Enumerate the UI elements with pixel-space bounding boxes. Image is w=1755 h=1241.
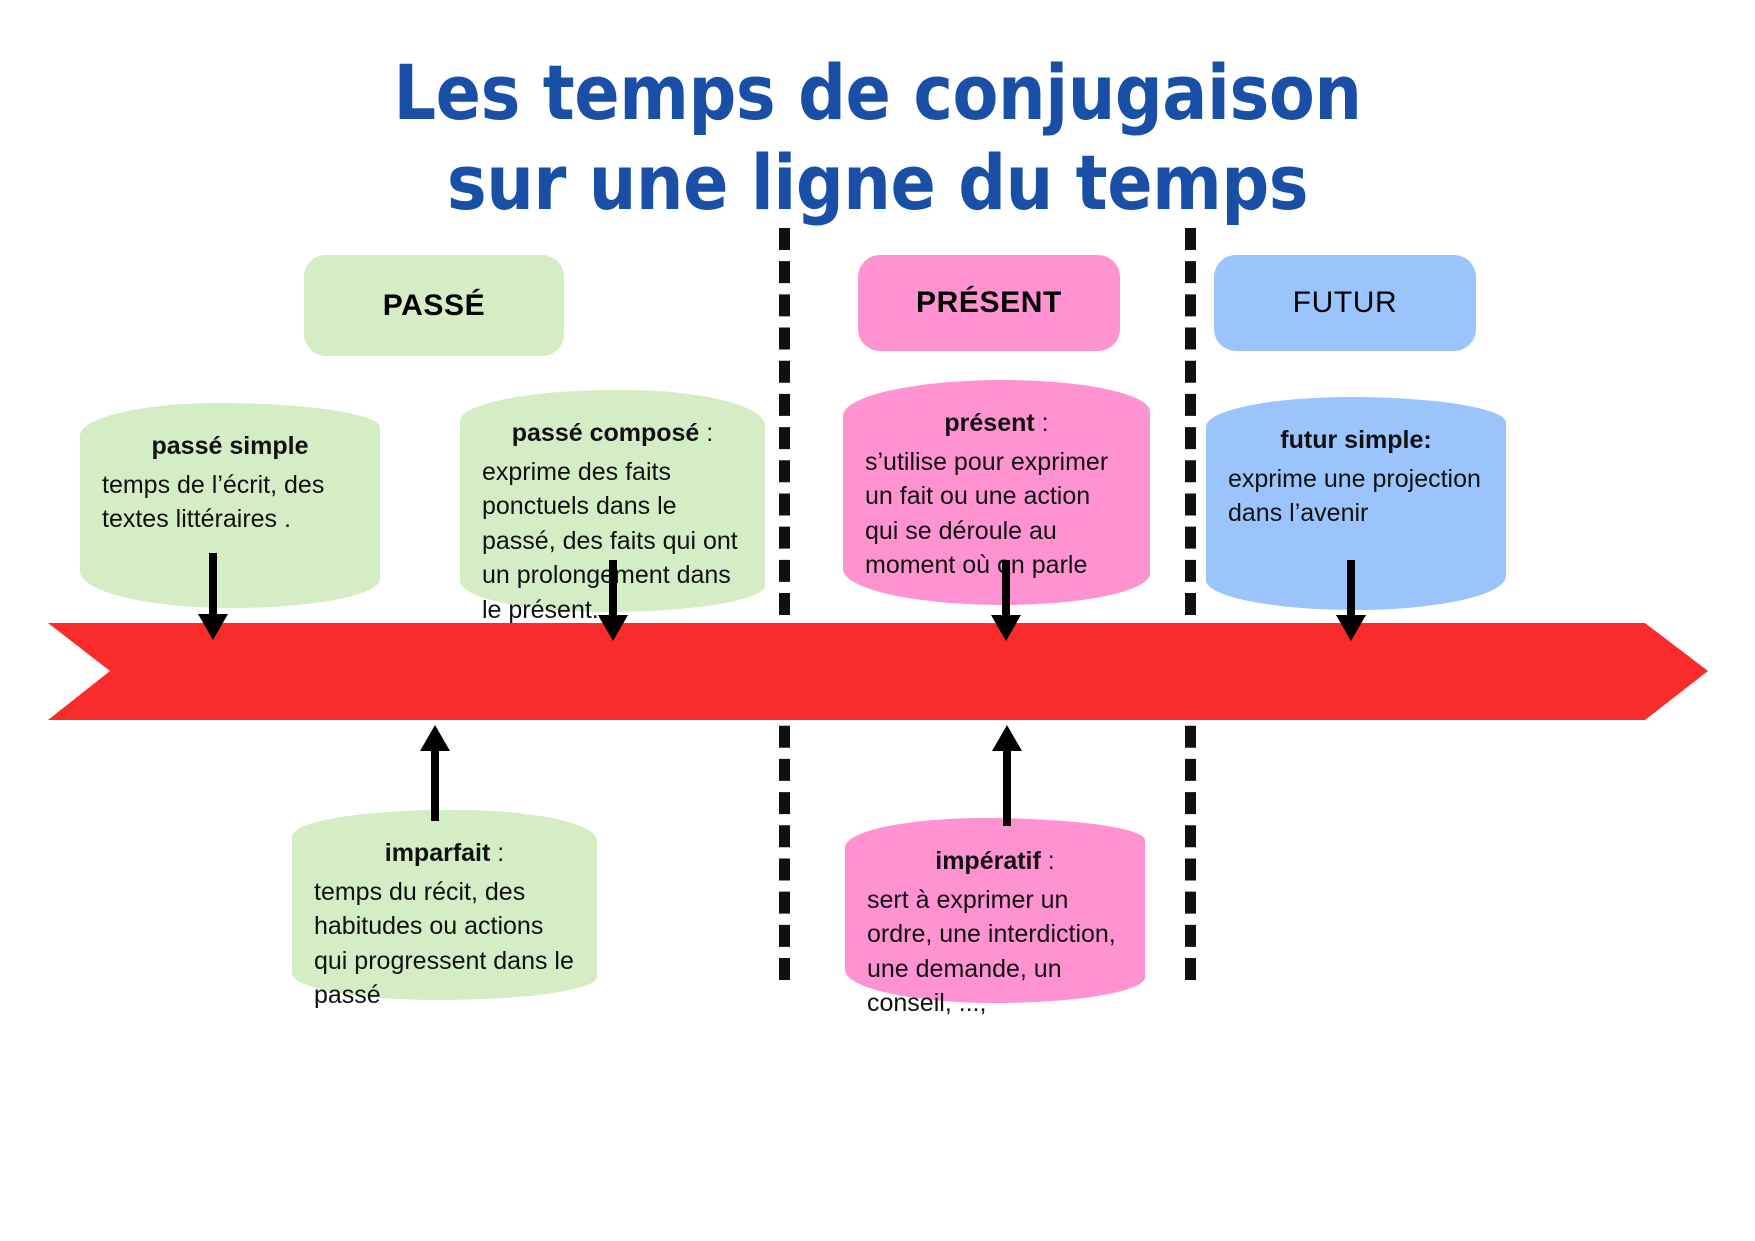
card-futur-simple-heading: futur simple: — [1228, 423, 1484, 458]
card-imparfait: imparfait : temps du récit, des habitude… — [292, 810, 597, 1000]
card-imperatif-heading: impératif : — [867, 844, 1123, 879]
page-title: Les temps de conjugaison sur une ligne d… — [105, 48, 1649, 227]
card-imparfait-body: temps du récit, des habitudes ou actions… — [314, 875, 575, 1013]
arrow-passe-simple-to-timeline — [198, 553, 228, 640]
card-imparfait-heading: imparfait : — [314, 836, 575, 871]
card-passe-simple: passé simple temps de l’écrit, des texte… — [80, 403, 380, 608]
card-imperatif-heading-suffix: : — [1041, 847, 1055, 875]
arrow-futur-simple-to-timeline — [1336, 560, 1366, 642]
card-passe-simple-body: temps de l’écrit, des textes littéraires… — [102, 468, 358, 537]
arrow-imparfait-to-timeline — [420, 725, 450, 820]
card-present-heading: présent : — [865, 406, 1128, 441]
timeline-infographic: Les temps de conjugaison sur une ligne d… — [0, 0, 1755, 1241]
period-header-present-label: PRÉSENT — [916, 286, 1062, 320]
card-futur-simple-body: exprime une projection dans l’avenir — [1228, 462, 1484, 531]
title-line-2: sur une ligne du temps — [105, 138, 1649, 228]
period-header-futur-label: FUTUR — [1293, 286, 1398, 320]
title-line-1: Les temps de conjugaison — [105, 48, 1649, 138]
arrow-passe-compose-to-timeline — [598, 560, 628, 642]
arrow-present-to-timeline — [991, 560, 1021, 642]
arrow-imperatif-to-timeline — [992, 725, 1022, 825]
card-imperatif: impératif : sert à exprimer un ordre, un… — [845, 818, 1145, 1003]
card-imperatif-body: sert à exprimer un ordre, une interdicti… — [867, 883, 1123, 1021]
card-present-heading-suffix: : — [1035, 409, 1049, 437]
period-header-passe: PASSÉ — [304, 255, 564, 356]
card-passe-compose-heading-suffix: : — [699, 419, 713, 447]
divider-past-present — [779, 228, 790, 980]
period-header-futur: FUTUR — [1214, 255, 1476, 351]
divider-present-future — [1185, 228, 1196, 980]
card-imparfait-heading-suffix: : — [490, 839, 504, 867]
period-header-present: PRÉSENT — [858, 255, 1120, 351]
card-passe-compose-heading: passé composé : — [482, 416, 743, 451]
card-passe-simple-heading: passé simple — [102, 429, 358, 464]
timeline-arrow-band — [48, 623, 1708, 720]
period-header-passe-label: PASSÉ — [383, 289, 485, 323]
